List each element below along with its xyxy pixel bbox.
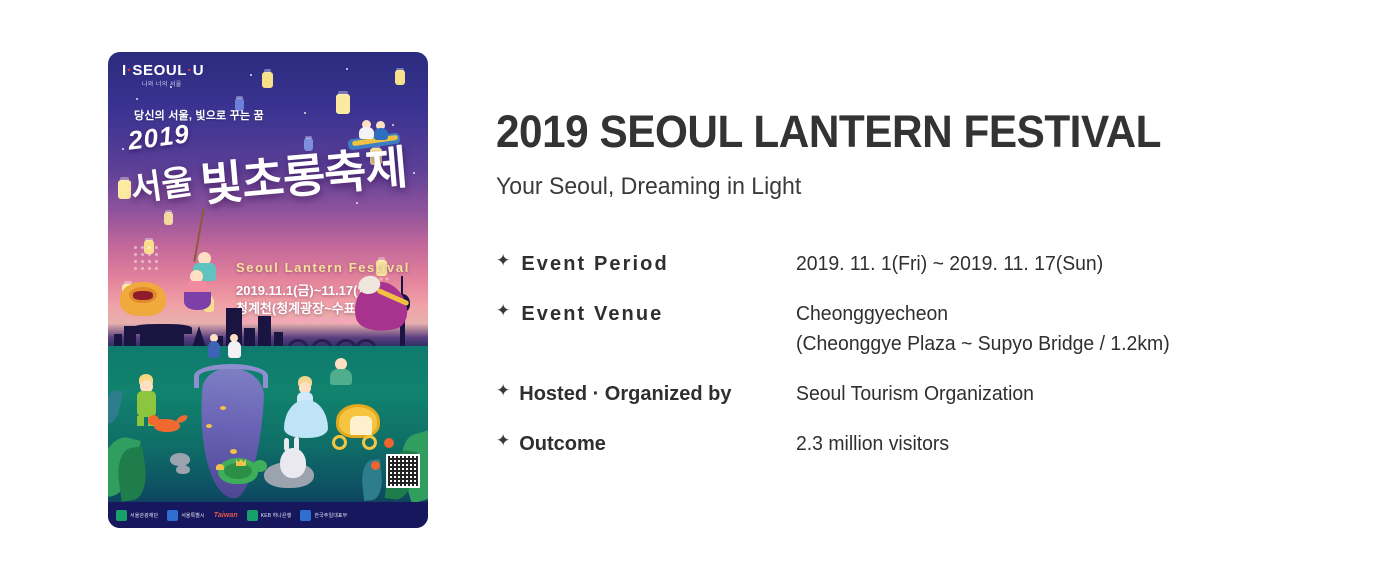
sponsor-mark-icon xyxy=(247,510,258,521)
star-sparkle xyxy=(250,74,252,76)
detail-row-outcome: ✦ Outcome 2.3 million visitors xyxy=(496,429,1356,459)
detail-label-text: Outcome xyxy=(519,429,606,459)
logo-u: U xyxy=(193,62,204,79)
rock-shape xyxy=(170,453,190,466)
carriage-wheel xyxy=(362,435,377,450)
detail-row-event-venue: ✦ Event Venue Cheonggyecheon (Cheonggye … xyxy=(496,299,1356,359)
sparkle-icon: ✦ xyxy=(496,428,510,454)
fox-character-illustration xyxy=(154,419,180,432)
sponsor-mark-icon xyxy=(300,510,311,521)
lantern-icon xyxy=(395,70,405,85)
page-root: I·SEOUL·U 나와 너의 서울 당신의 서울, 빛으로 꾸는 꿈 2019… xyxy=(0,0,1400,580)
flower-shape xyxy=(371,461,380,470)
character-body xyxy=(330,369,352,385)
detail-label-text: Hosted · Organized by xyxy=(519,379,731,409)
sponsor-logo: 한국주일대표부 xyxy=(300,510,347,521)
character-body xyxy=(208,341,220,358)
star-sparkle xyxy=(304,112,306,114)
detail-label: ✦ Hosted · Organized by xyxy=(496,379,796,409)
logo-seoul: SEOUL xyxy=(132,62,187,79)
poster-title-korean-seoul: 서울 xyxy=(127,154,196,211)
i-seoul-u-logo-subtitle: 나와 너의 서울 xyxy=(142,79,182,88)
star-sparkle xyxy=(136,98,138,100)
sparkle-icon: ✦ xyxy=(496,298,512,324)
poster-english-title: Seoul Lantern Festival xyxy=(236,260,410,275)
sponsor-mark-icon xyxy=(167,510,178,521)
detail-value: 2.3 million visitors xyxy=(796,429,949,459)
page-title: 2019 SEOUL LANTERN FESTIVAL xyxy=(496,108,1304,155)
sponsor-logo: Taiwan xyxy=(214,512,238,519)
flower-shape xyxy=(384,438,394,448)
i-seoul-u-logo: I·SEOUL·U xyxy=(122,62,204,79)
tiger-character-illustration xyxy=(120,282,166,316)
poster-title-korean-main: 빛초롱축제 xyxy=(198,131,410,215)
sponsor-name: 서울특별시 xyxy=(181,512,205,519)
sparkle-icon: ✦ xyxy=(496,378,510,404)
detail-label: ✦ Outcome xyxy=(496,429,796,459)
sponsor-name: 서울관광재단 xyxy=(130,512,158,519)
rock-shape xyxy=(176,465,190,474)
cinderella-dress xyxy=(284,400,328,438)
bridge-arc xyxy=(194,364,268,388)
sponsor-name: 한국주일대표부 xyxy=(314,512,347,519)
festival-poster-image: I·SEOUL·U 나와 너의 서울 당신의 서울, 빛으로 꾸는 꿈 2019… xyxy=(108,52,428,528)
supyo-bridge-illustration xyxy=(188,362,274,388)
page-subtitle: Your Seoul, Dreaming in Light xyxy=(496,173,1322,201)
detail-row-hosted-organized-by: ✦ Hosted · Organized by Seoul Tourism Or… xyxy=(496,379,1356,409)
detail-value: 2019. 11. 1(Fri) ~ 2019. 11. 17(Sun) xyxy=(796,249,1103,279)
detail-label-text: Event Venue xyxy=(521,299,663,329)
poster-tagline: 당신의 서울, 빛으로 꾸는 꿈 xyxy=(134,107,264,123)
detail-label: ✦ Event Venue xyxy=(496,299,796,329)
sponsor-logo: KEB 하나은행 xyxy=(247,510,292,521)
gold-leaf-shape xyxy=(220,406,226,410)
star-sparkle xyxy=(122,148,124,150)
detail-label-text: Event Period xyxy=(521,249,668,279)
detail-label: ✦ Event Period xyxy=(496,249,796,279)
rabbit-character-illustration xyxy=(280,448,306,478)
poster-title-year: 2019 xyxy=(126,118,191,156)
sparkle-icon: ✦ xyxy=(496,248,512,274)
sponsor-logo: 서울특별시 xyxy=(167,510,205,521)
gold-leaf-shape xyxy=(206,424,212,428)
couple-on-bridge-illustration xyxy=(204,334,250,360)
sponsor-mark-icon xyxy=(116,510,127,521)
sponsor-logo: 서울관광재단 xyxy=(116,510,158,521)
character-body xyxy=(228,341,241,358)
gold-leaf-shape xyxy=(230,449,237,454)
monk-character-illustration xyxy=(326,358,356,388)
star-sparkle xyxy=(413,172,415,174)
sponsor-logo-bar: 서울관광재단 서울특별시 Taiwan KEB 하나은행 한국주일대표부 xyxy=(108,502,428,528)
lantern-icon xyxy=(262,72,273,88)
detail-row-event-period: ✦ Event Period 2019. 11. 1(Fri) ~ 2019. … xyxy=(496,249,1356,279)
star-sparkle xyxy=(356,202,358,204)
lantern-icon xyxy=(336,94,350,114)
carriage-wheel xyxy=(332,435,347,450)
sponsor-name: Taiwan xyxy=(214,512,238,519)
firework-icon xyxy=(132,244,158,270)
pumpkin-carriage-illustration xyxy=(336,404,380,438)
qr-code[interactable] xyxy=(386,454,420,488)
sponsor-name: KEB 하나은행 xyxy=(261,512,292,519)
detail-value: Cheonggyecheon (Cheonggye Plaza ~ Supyo … xyxy=(796,299,1170,359)
event-detail-list: ✦ Event Period 2019. 11. 1(Fri) ~ 2019. … xyxy=(496,249,1356,459)
qr-code-pattern xyxy=(388,456,418,486)
character-body xyxy=(137,391,156,417)
cinderella-illustration xyxy=(280,376,332,442)
lantern-icon xyxy=(164,212,173,225)
event-info-panel: 2019 SEOUL LANTERN FESTIVAL Your Seoul, … xyxy=(496,108,1356,459)
detail-value: Seoul Tourism Organization xyxy=(796,379,1034,409)
star-sparkle xyxy=(346,68,348,70)
gold-leaf-shape xyxy=(216,464,224,470)
